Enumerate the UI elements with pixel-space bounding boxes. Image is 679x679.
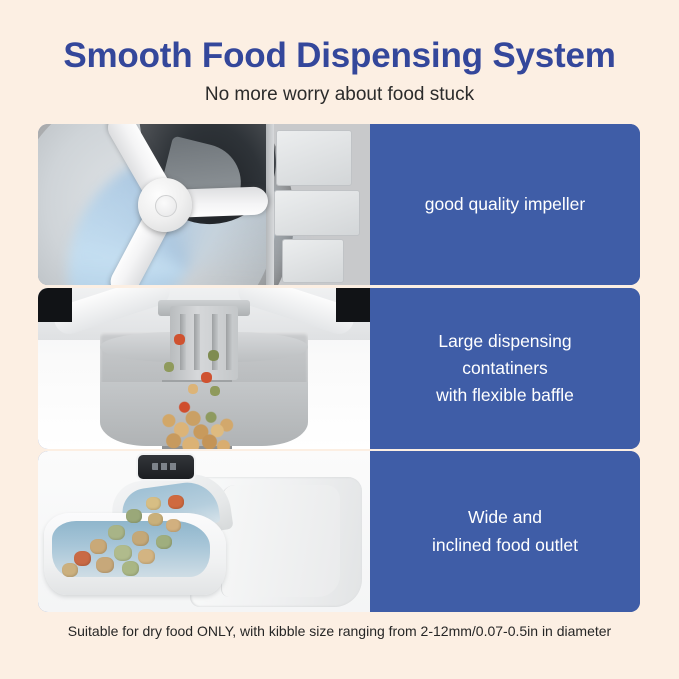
baffle-fin — [226, 314, 232, 370]
baffle-fin — [212, 314, 218, 370]
corner-shadow — [38, 288, 72, 322]
page-subtitle: No more worry about food stuck — [0, 75, 679, 107]
header: Smooth Food Dispensing System No more wo… — [0, 0, 679, 107]
kibble-piece — [174, 334, 185, 345]
kibble-pile — [158, 396, 236, 449]
kibble-piece — [132, 531, 149, 546]
feature-row-containers: Large dispensing contatiners with flexib… — [38, 288, 640, 449]
housing-panel — [276, 130, 352, 186]
kibble-piece — [201, 372, 212, 383]
kibble-piece — [164, 362, 174, 372]
caption-panel-impeller: good quality impeller — [370, 124, 640, 285]
kibble-piece — [210, 386, 220, 396]
caption-panel-outlet: Wide and inclined food outlet — [370, 451, 640, 612]
caption-line: Large dispensing — [436, 328, 574, 355]
kibble-piece — [122, 561, 139, 576]
kibble-piece — [188, 384, 198, 394]
corner-shadow — [336, 288, 370, 322]
impeller-hub — [138, 178, 192, 232]
caption-line: Wide and — [432, 504, 578, 531]
kibble-piece — [156, 535, 172, 549]
kibble-piece — [148, 513, 163, 526]
page-title: Smooth Food Dispensing System — [0, 0, 679, 75]
caption-line: contatiners — [436, 355, 574, 382]
housing-panel — [282, 239, 344, 283]
kibble-piece — [90, 539, 107, 554]
kibble-piece — [74, 551, 91, 566]
caption-line: with flexible baffle — [436, 382, 574, 409]
kibble-piece — [62, 563, 78, 577]
kibble-piece — [138, 549, 155, 564]
kibble-piece — [208, 350, 219, 361]
feature-row-outlet: Wide and inclined food outlet — [38, 451, 640, 612]
caption-line: good quality impeller — [425, 191, 586, 218]
kibble-piece — [108, 525, 125, 540]
kibble-piece — [146, 497, 161, 510]
infographic-page: Smooth Food Dispensing System No more wo… — [0, 0, 679, 679]
kibble-piece — [114, 545, 132, 561]
kibble-piece — [168, 495, 184, 509]
display-screen[interactable] — [136, 453, 196, 481]
baffle-fin — [194, 314, 200, 370]
caption-text: Wide and inclined food outlet — [420, 504, 590, 558]
kibble-piece — [126, 509, 142, 523]
caption-text: Large dispensing contatiners with flexib… — [424, 328, 586, 409]
kibble-piece — [166, 519, 181, 532]
feeder-photo — [38, 451, 370, 612]
housing-panel — [274, 190, 360, 236]
kibble-piece — [96, 557, 114, 573]
feeder-side-panel — [221, 485, 340, 597]
footer-note: Suitable for dry food ONLY, with kibble … — [0, 622, 679, 640]
caption-line: inclined food outlet — [432, 532, 578, 559]
display-glyphs-icon — [152, 463, 180, 470]
caption-text: good quality impeller — [413, 191, 598, 218]
carousel-photo — [38, 288, 370, 449]
feature-row-impeller: good quality impeller — [38, 124, 640, 285]
impeller-photo — [38, 124, 370, 285]
caption-panel-containers: Large dispensing contatiners with flexib… — [370, 288, 640, 449]
